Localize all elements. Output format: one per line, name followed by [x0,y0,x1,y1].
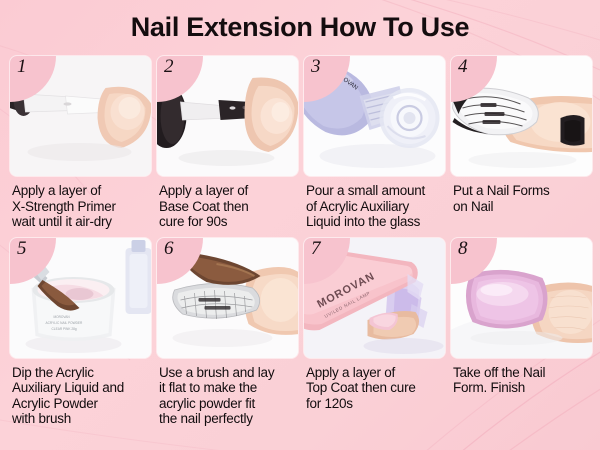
step-caption-1: Apply a layer of X-Strength Primer wait … [10,183,151,230]
step-number-1: 1 [17,57,27,78]
svg-text:MOROVAN: MOROVAN [54,315,71,319]
step-photo-5: MOROVAN ACRYLIC NAIL POWDER CLEAR PINK 2… [10,238,151,358]
step-caption-8: Take off the Nail Form. Finish [451,365,592,396]
step-card-1: 1 Apply a layer of X-Strength Primer wai… [10,56,151,230]
step-photo-3: M MOROVAN [304,56,445,176]
poster-canvas: Nail Extension How To Use [0,0,600,450]
page-title: Nail Extension How To Use [0,12,600,43]
step-photo-1: 1 [10,56,151,176]
step-photo-4: 4 [451,56,592,176]
step-card-3: M MOROVAN [304,56,445,230]
steps-grid: 1 Apply a layer of X-Strength Primer wai… [10,56,592,427]
step-photo-7: MOROVAN UV/LED NAIL LAMP 7 [304,238,445,358]
step-number-5: 5 [17,239,27,260]
svg-text:CLEAR PINK 28g: CLEAR PINK 28g [52,327,77,331]
step-number-2: 2 [164,57,174,78]
step-caption-7: Apply a layer of Top Coat then cure for … [304,365,445,412]
step-photo-6: 6 [157,238,298,358]
step-number-4: 4 [458,57,468,78]
step-card-5: MOROVAN ACRYLIC NAIL POWDER CLEAR PINK 2… [10,238,151,427]
svg-text:ACRYLIC NAIL POWDER: ACRYLIC NAIL POWDER [46,321,84,325]
step-number-3: 3 [311,57,321,78]
step-caption-5: Dip the Acrylic Auxiliary Liquid and Acr… [10,365,151,427]
step-caption-6: Use a brush and lay it flat to make the … [157,365,298,427]
step-card-4: 4 Put a Nail Forms on Nail [451,56,592,230]
step-card-2: 2 Apply a layer of Base Coat then cure f… [157,56,298,230]
step-number-7: 7 [311,239,321,260]
step-card-7: MOROVAN UV/LED NAIL LAMP 7 Apply a layer… [304,238,445,427]
step-card-8: 8 Take off the Nail Form. Finish [451,238,592,427]
step-photo-8: 8 [451,238,592,358]
step-caption-3: Pour a small amount of Acrylic Auxiliary… [304,183,445,230]
step-number-6: 6 [164,239,174,260]
step-number-8: 8 [458,239,468,260]
step-photo-2: 2 [157,56,298,176]
step-caption-2: Apply a layer of Base Coat then cure for… [157,183,298,230]
step-card-6: 6 Use a brush and lay it flat to make th… [157,238,298,427]
step-caption-4: Put a Nail Forms on Nail [451,183,592,214]
